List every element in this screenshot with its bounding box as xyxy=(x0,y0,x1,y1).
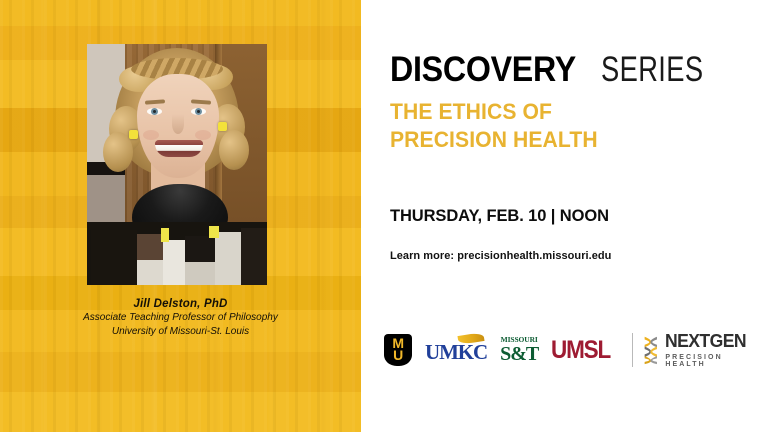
content-panel: DISCOVERY SERIES THE ETHICS OF PRECISION… xyxy=(361,0,768,432)
garment-accent xyxy=(209,226,219,238)
university-of-missouri-logo[interactable]: MU xyxy=(384,334,412,366)
eye-left xyxy=(147,108,162,115)
logo-divider xyxy=(632,333,633,367)
speaker-photo xyxy=(87,44,267,285)
headline-series: SERIES xyxy=(601,50,703,90)
partner-logo-bar: MU UMKC MISSOURI S&T UMSL xyxy=(384,328,768,372)
snt-missouri-word: MISSOURI xyxy=(501,336,538,344)
event-promo-poster: Jill Delston, PhD Associate Teaching Pro… xyxy=(0,0,768,432)
garment-accent xyxy=(161,228,169,242)
garment-block xyxy=(163,240,185,285)
gold-background-panel: Jill Delston, PhD Associate Teaching Pro… xyxy=(0,0,361,432)
eye-right xyxy=(191,108,206,115)
series-headline: DISCOVERY SERIES xyxy=(390,50,733,90)
earring-right xyxy=(218,122,227,131)
umsl-wordmark: UMSL xyxy=(551,336,610,365)
umkc-wordmark: UMKC xyxy=(425,340,487,365)
cheek-left xyxy=(143,130,159,140)
garment-block xyxy=(185,262,215,285)
event-subtitle-line-1: THE ETHICS OF xyxy=(390,98,745,126)
umkc-logo[interactable]: UMKC xyxy=(425,335,487,365)
mu-shield-icon: MU xyxy=(384,334,412,366)
snt-wordmark: S&T xyxy=(500,344,538,364)
umsl-logo[interactable]: UMSL xyxy=(551,336,617,365)
cheek-right xyxy=(195,130,211,140)
speaker-title: Associate Teaching Professor of Philosop… xyxy=(0,311,361,325)
learn-more-text[interactable]: Learn more: precisionhealth.missouri.edu xyxy=(390,250,611,262)
hair-curl xyxy=(219,130,249,170)
speaker-name: Jill Delston, PhD xyxy=(0,297,361,311)
garment-block xyxy=(215,232,241,285)
event-subtitle-line-2: PRECISION HEALTH xyxy=(390,126,745,154)
garment-block xyxy=(137,260,163,285)
garment-block xyxy=(241,228,267,285)
iris xyxy=(151,108,158,115)
nextgen-precision-health-logo[interactable]: NEXTGEN PRECISION HEALTH xyxy=(642,332,755,368)
dna-helix-icon xyxy=(642,334,660,366)
speaker-caption: Jill Delston, PhD Associate Teaching Pro… xyxy=(0,297,361,338)
missouri-s-and-t-logo[interactable]: MISSOURI S&T xyxy=(500,336,538,365)
garment-block xyxy=(91,230,137,285)
mu-letters: MU xyxy=(392,338,403,362)
nextgen-wordmark: NEXTGEN xyxy=(665,332,750,351)
event-subtitle: THE ETHICS OF PRECISION HEALTH xyxy=(390,98,745,154)
smiling-mouth xyxy=(155,140,203,157)
iris xyxy=(195,108,202,115)
speaker-affiliation: University of Missouri-St. Louis xyxy=(0,325,361,339)
headline-discovery: DISCOVERY xyxy=(390,50,576,90)
event-datetime: THURSDAY, FEB. 10 | NOON xyxy=(390,207,609,226)
nose xyxy=(172,114,184,134)
nextgen-tagline: PRECISION HEALTH xyxy=(665,354,755,368)
earring-left xyxy=(129,130,138,139)
